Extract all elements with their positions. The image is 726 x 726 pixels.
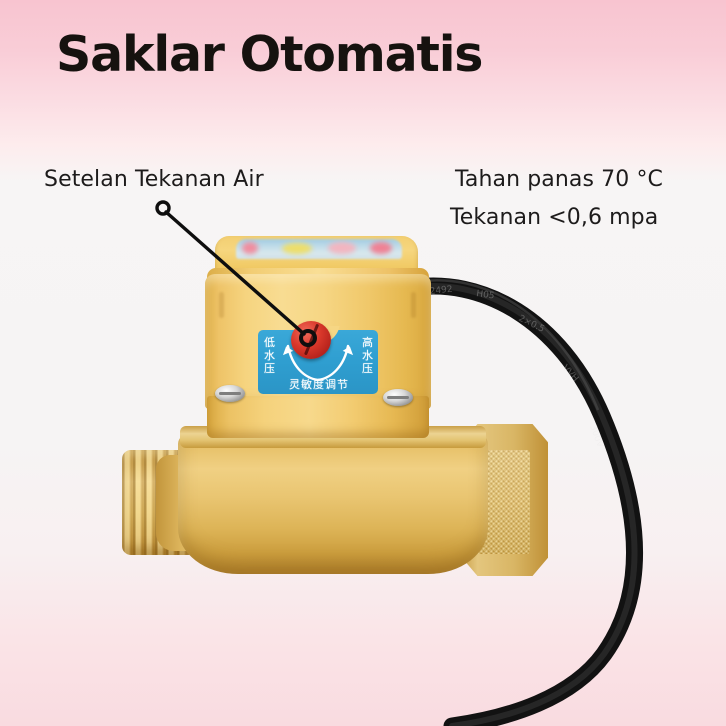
label-sensitivity: 灵敏度调节 [281,378,357,391]
top-sticker [236,239,402,259]
pressure-adjust-knob[interactable] [291,321,331,359]
label-low-pressure: 低水压 [262,336,277,375]
brass-body [178,432,488,574]
knob-screw-slot [304,324,319,356]
spec-text-heat-resistance: Tahan panas 70 °C [455,167,663,192]
housing-screw-right [383,389,413,406]
label-high-pressure: 高水压 [360,336,375,375]
spec-text-pressure-rating: Tekanan <0,6 mpa [450,205,658,230]
product-image-canvas: Saklar Otomatis 2492 H05 2×0.5 VVH 300V [0,0,726,726]
product-illustration: 2492 H05 2×0.5 VVH 300V [0,0,726,726]
housing-screw-left [215,385,245,402]
callout-text-pressure-setting: Setelan Tekanan Air [44,167,264,192]
